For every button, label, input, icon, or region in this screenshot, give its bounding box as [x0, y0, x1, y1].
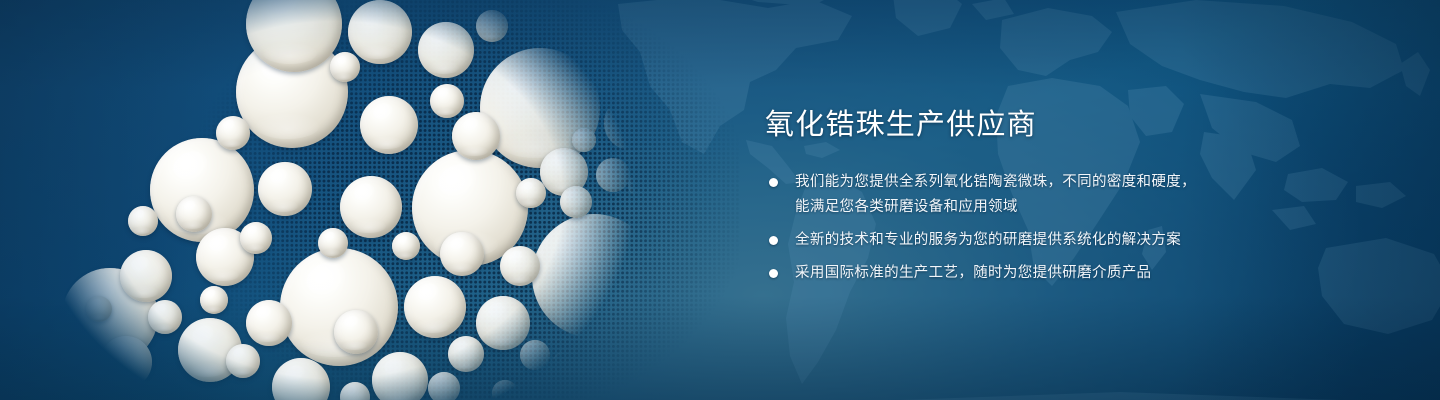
list-item-line: 采用国际标准的生产工艺，随时为您提供研磨介质产品	[795, 261, 1325, 286]
feature-list: 我们能为您提供全系列氧化锆陶瓷微珠，不同的密度和硬度， 能满足您各类研磨设备和应…	[765, 170, 1325, 286]
list-item-line: 能满足您各类研磨设备和应用领域	[795, 195, 1325, 220]
hero-banner: 氧化锆珠生产供应商 我们能为您提供全系列氧化锆陶瓷微珠，不同的密度和硬度， 能满…	[0, 0, 1440, 400]
list-item: 全新的技术和专业的服务为您的研磨提供系统化的解决方案	[765, 228, 1325, 253]
list-item: 采用国际标准的生产工艺，随时为您提供研磨介质产品	[765, 261, 1325, 286]
page-title: 氧化锆珠生产供应商	[765, 106, 1325, 144]
list-item-line: 我们能为您提供全系列氧化锆陶瓷微珠，不同的密度和硬度，	[795, 170, 1325, 195]
banner-copy: 氧化锆珠生产供应商 我们能为您提供全系列氧化锆陶瓷微珠，不同的密度和硬度， 能满…	[765, 106, 1325, 286]
bullet-dot-icon	[769, 236, 778, 245]
bullet-dot-icon	[769, 178, 778, 187]
list-item-line: 全新的技术和专业的服务为您的研磨提供系统化的解决方案	[795, 228, 1325, 253]
list-item: 我们能为您提供全系列氧化锆陶瓷微珠，不同的密度和硬度， 能满足您各类研磨设备和应…	[765, 170, 1325, 220]
bullet-dot-icon	[769, 269, 778, 278]
